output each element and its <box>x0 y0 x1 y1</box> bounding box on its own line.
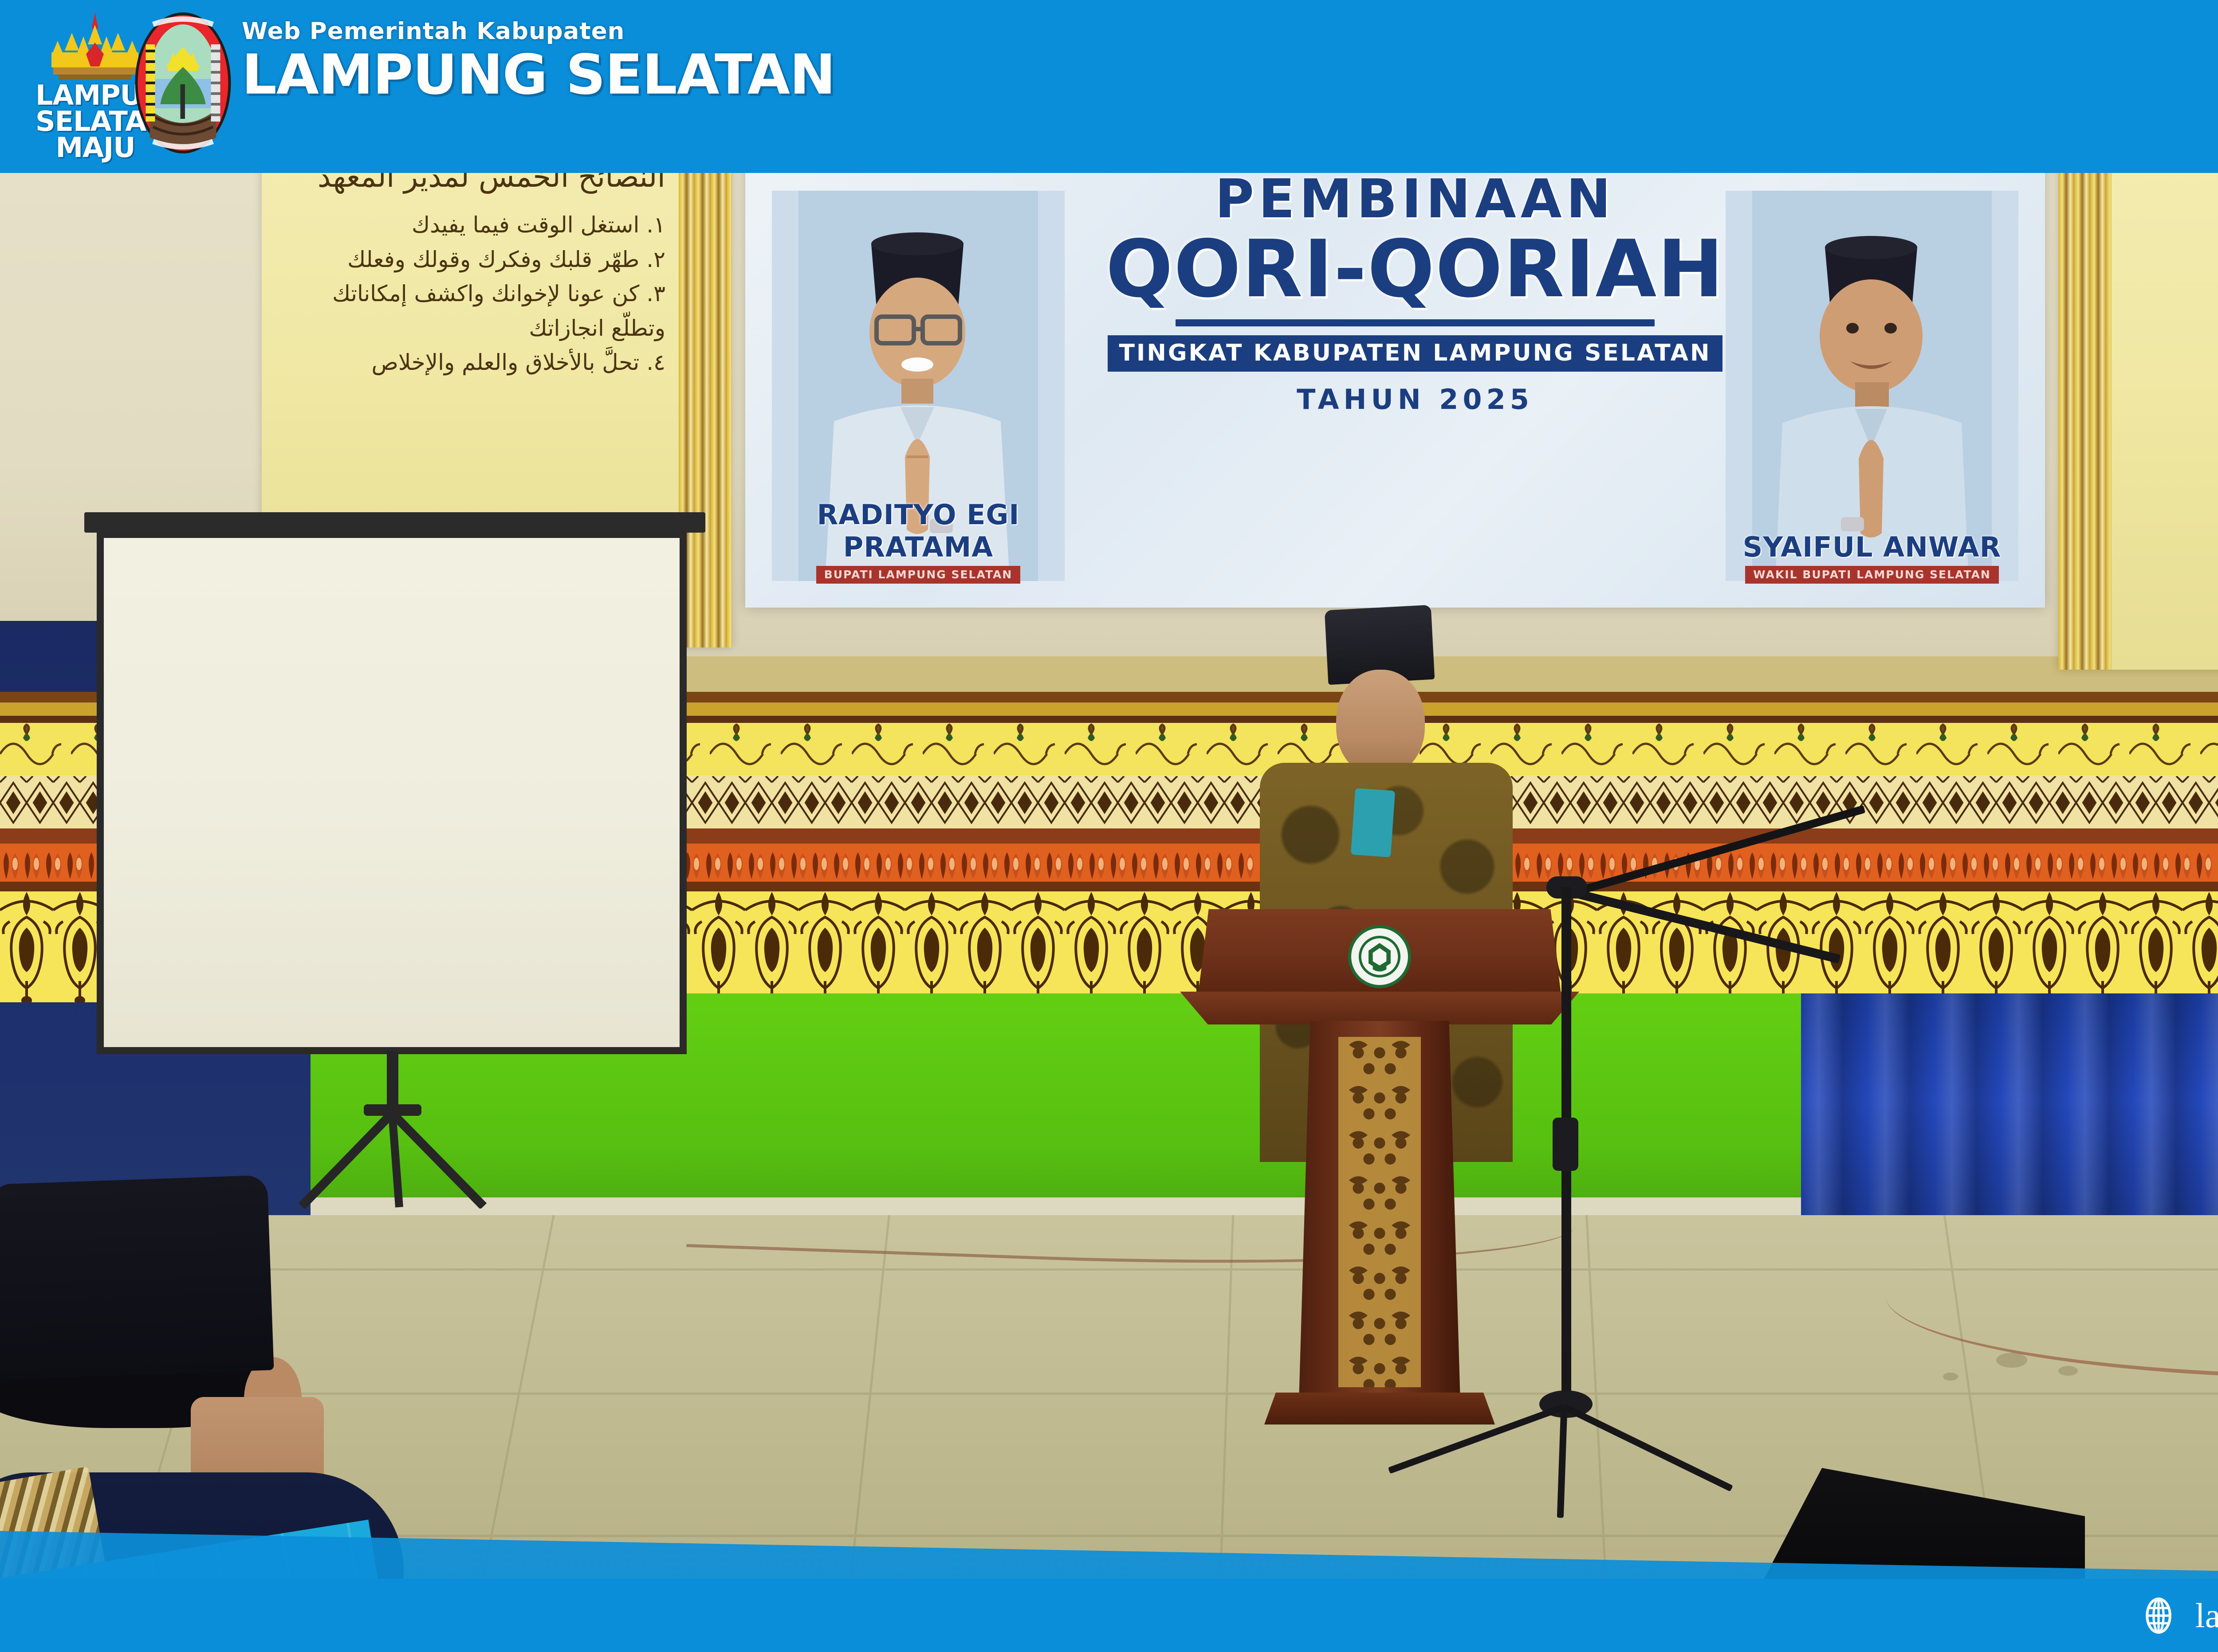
banner-line-4: TAHUN 2025 <box>1082 383 1748 416</box>
person-name: RADITYO EGI PRATAMA <box>772 498 1065 563</box>
page-title: LAMPUNG SELATAN <box>242 47 835 102</box>
poster-right-item: ٢. الجسم السليم <box>2125 186 2218 222</box>
poster-left-item: وتطلّع انجازاتك <box>279 311 665 346</box>
person-name: SYAIFUL ANWAR <box>1726 531 2018 563</box>
footer-website-url[interactable]: lampungselatankab.go.id <box>2195 1596 2218 1636</box>
poster-left-item: ٤. تحلَّ بالأخلاق والعلم والإخلاص <box>279 345 665 380</box>
nameplate-wakil-bupati: SYAIFUL ANWAR WAKIL BUPATI LAMPUNG SELAT… <box>1726 531 2018 584</box>
kabupaten-seal-icon[interactable] <box>133 10 233 156</box>
peci-cap <box>0 1175 274 1379</box>
filigree-pattern <box>1338 1037 1421 1387</box>
globe-icon <box>2139 1597 2178 1635</box>
banner-line-1: PEMBINAAN <box>1082 173 1748 226</box>
banner-line-3: TINGKAT KABUPATEN LAMPUNG SELATAN <box>1108 335 1723 372</box>
poster-right-item: ١. الإخلاص <box>2125 346 2218 381</box>
screen-roller-bar <box>84 512 705 533</box>
banner-title-block: PEMBINAAN QORI-QORIAH TINGKAT KABUPATEN … <box>1082 173 1748 416</box>
portrait-wakil-bupati: SYAIFUL ANWAR WAKIL BUPATI LAMPUNG SELAT… <box>1726 191 2018 581</box>
screen-surface <box>97 531 687 1054</box>
poster-left-item: ٣. كن عونا لإخوانك واكشف إمكاناتك <box>279 277 665 311</box>
poster-right-item: ٥. الحرية <box>2125 488 2218 523</box>
microphone-stand <box>1420 834 1757 1464</box>
person-role: WAKIL BUPATI LAMPUNG SELATAN <box>1745 566 1999 584</box>
poster-right-item: ٣. الاعتماد على النفس <box>2125 417 2218 452</box>
site-header: LAMPUNG SELATAN MAJU <box>0 0 2218 173</box>
poster-left-item: ٢. طهّر قلبك وفكرك وقولك وفعلك <box>279 243 665 277</box>
person-role: BUPATI LAMPUNG SELATAN <box>816 566 1021 584</box>
podium-carved-panel <box>1338 1037 1421 1387</box>
poster-right-item: ٤. الأخوة الإسلامية <box>2125 452 2218 488</box>
page-frame: النصائح الخمس لمدير المعهد ١. استغل الوق… <box>0 0 2218 1652</box>
event-banner: RADITYO EGI PRATAMA BUPATI LAMPUNG SELAT… <box>745 146 2045 608</box>
site-footer: lampungselatankab.go.id <box>0 1579 2218 1652</box>
poster-right-heading: الأسس الخمسة للمعهد <box>2125 305 2218 340</box>
event-photo: النصائح الخمس لمدير المعهد ١. استغل الوق… <box>0 0 2218 1652</box>
portrait-bupati: RADITYO EGI PRATAMA BUPATI LAMPUNG SELAT… <box>772 191 1065 581</box>
emblem-glyph <box>1358 935 1401 978</box>
ministry-emblem <box>1348 925 1411 988</box>
poster-left-item: ١. استغل الوقت فيما يفيدك <box>279 208 665 243</box>
poster-gold-border <box>2058 146 2112 670</box>
nameplate-bupati: RADITYO EGI PRATAMA BUPATI LAMPUNG SELAT… <box>772 498 1065 584</box>
speaker-head <box>1336 670 1425 776</box>
projector-screen <box>71 512 719 1209</box>
poster-right-item: ٣. الثقافة الواسعة <box>2125 222 2218 257</box>
header-titles: Web Pemerintah Kabupaten LAMPUNG SELATAN <box>242 18 835 102</box>
banner-divider <box>1176 319 1655 326</box>
arabic-poster-right: ١. الأخلاق الكريمة ٢. الجسم السليم ٣. ال… <box>2058 146 2218 670</box>
portrait-illustration <box>1726 191 2018 581</box>
lampung-crown-icon <box>45 12 145 82</box>
banner-line-2: QORI-QORIAH <box>1082 229 1748 310</box>
mic-height-collar <box>1553 1118 1578 1171</box>
poster-right-item: ٢. البساطة <box>2125 381 2218 417</box>
header-subtitle: Web Pemerintah Kabupaten <box>242 18 835 45</box>
neck-tie <box>1351 788 1395 857</box>
poster-right-item: ٤. الأفكار المنفتحة <box>2125 257 2218 293</box>
